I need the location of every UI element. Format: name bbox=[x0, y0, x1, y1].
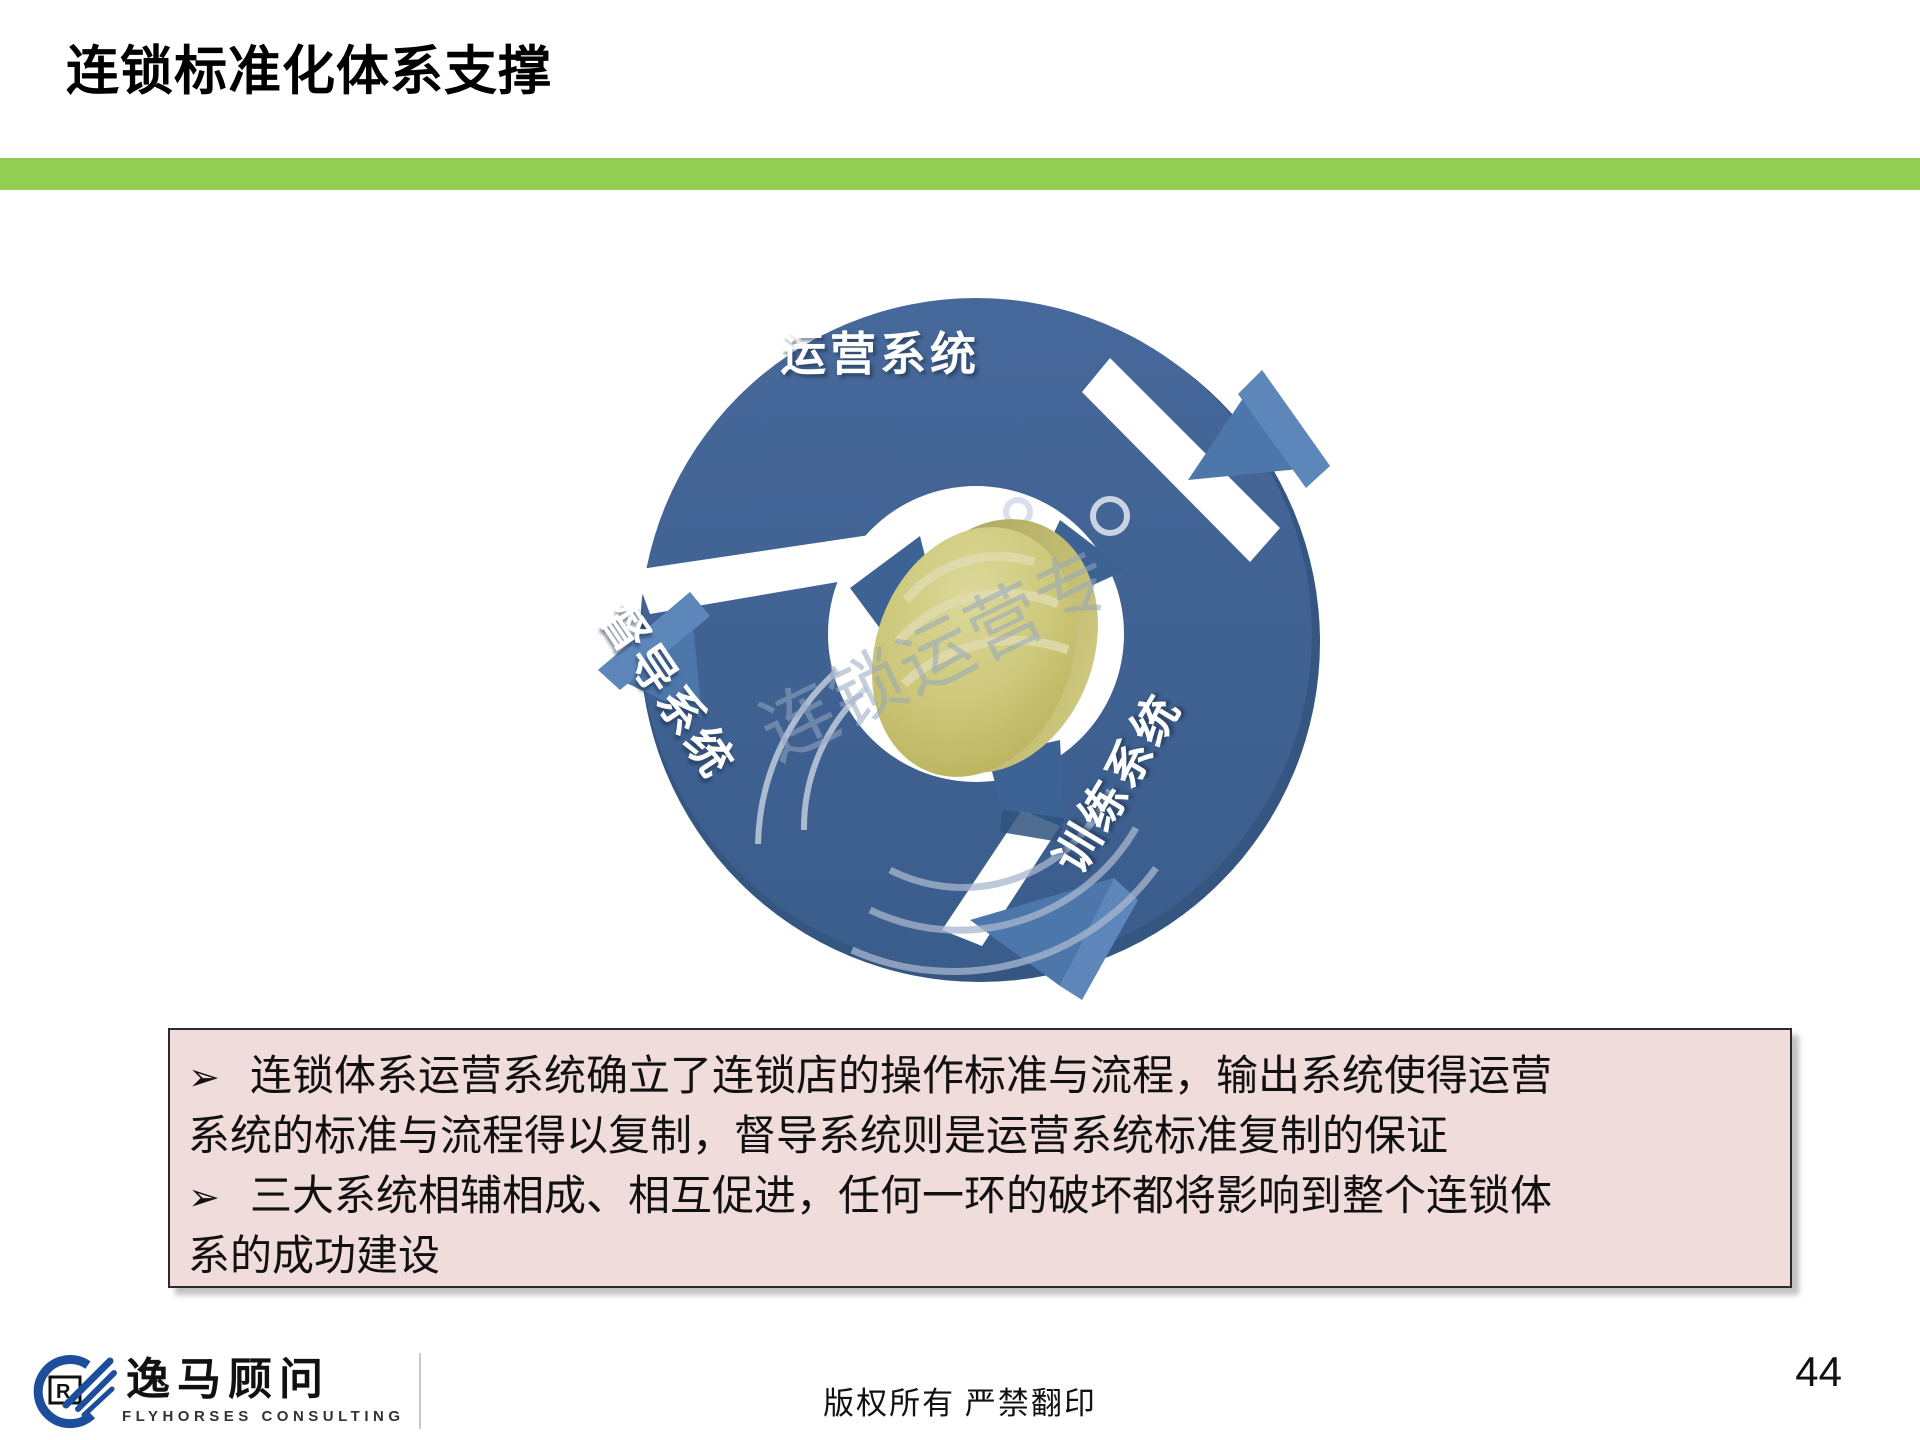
callout-line-text: 系的成功建设 bbox=[188, 1232, 440, 1279]
page-number: 44 bbox=[1795, 1348, 1842, 1396]
bullet-arrow-icon: ➢ bbox=[188, 1172, 250, 1226]
title-bar: 连锁标准化体系支撑 bbox=[0, 0, 1920, 160]
cycle-diagram: 运营系统 督导系统 训练系统 连锁运营专 bbox=[590, 270, 1370, 1010]
copyright-notice: 版权所有 严禁翻印 bbox=[0, 1378, 1920, 1423]
callout-line: ➢三大系统相辅相成、相互促进，任何一环的破坏都将影响到整个连锁体 bbox=[188, 1166, 1768, 1226]
callout-line: ➢连锁体系运营系统确立了连锁店的操作标准与流程，输出系统使得运营 bbox=[188, 1046, 1768, 1106]
callout-line: 系的成功建设 bbox=[188, 1226, 1768, 1286]
page-title: 连锁标准化体系支撑 bbox=[66, 42, 552, 103]
slide-root: 连锁标准化体系支撑 bbox=[0, 0, 1920, 1440]
callout-line-text: 连锁体系运营系统确立了连锁店的操作标准与流程，输出系统使得运营 bbox=[250, 1052, 1552, 1099]
callout-line-text: 三大系统相辅相成、相互促进，任何一环的破坏都将影响到整个连锁体 bbox=[250, 1172, 1552, 1219]
bullet-arrow-icon: ➢ bbox=[188, 1052, 250, 1106]
green-divider-rule bbox=[0, 158, 1920, 190]
cycle-diagram-graphic bbox=[590, 270, 1370, 1010]
summary-callout-box: ➢连锁体系运营系统确立了连锁店的操作标准与流程，输出系统使得运营 系统的标准与流… bbox=[168, 1028, 1792, 1288]
callout-line-text: 系统的标准与流程得以复制，督导系统则是运营系统标准复制的保证 bbox=[188, 1112, 1448, 1159]
callout-line: 系统的标准与流程得以复制，督导系统则是运营系统标准复制的保证 bbox=[188, 1106, 1768, 1166]
